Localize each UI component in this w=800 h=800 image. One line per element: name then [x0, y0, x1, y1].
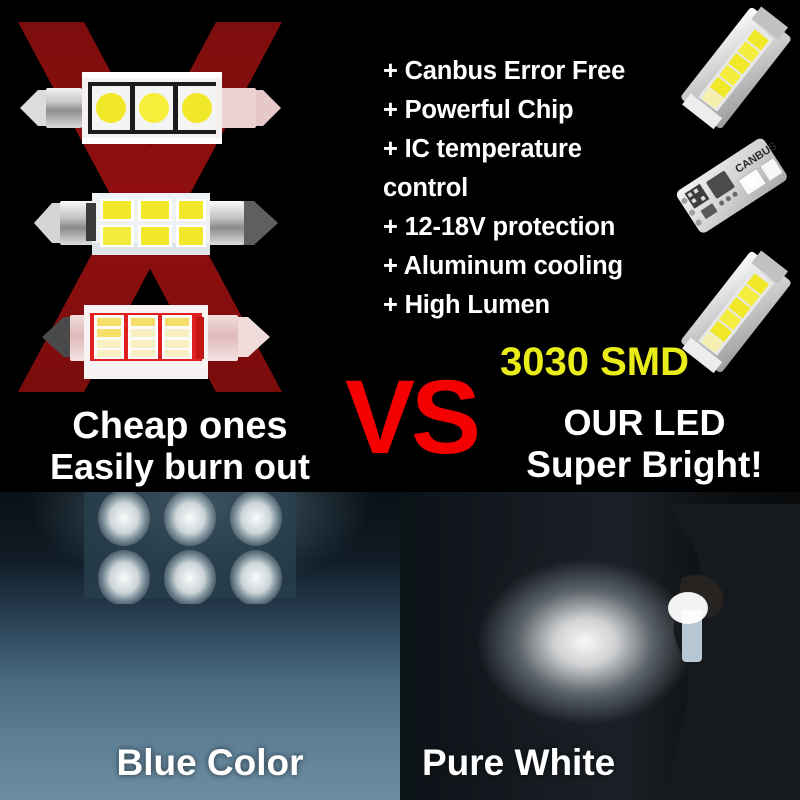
feature-item-2: + IC temperature: [383, 130, 693, 169]
top-comparison-section: CANBUS: [0, 0, 800, 492]
feature-item-0: + Canbus Error Free: [383, 52, 693, 91]
feature-item-4: + 12-18V protection: [383, 208, 693, 247]
cheap-bulb-1-festoon-3smd: [18, 66, 283, 151]
feature-list: + Canbus Error Free + Powerful Chip + IC…: [383, 52, 693, 325]
blue-color-label: Blue Color: [0, 742, 400, 784]
our-led-headline-line1: OUR LED: [492, 402, 797, 444]
vs-label: VS: [345, 365, 477, 470]
cheap-bulb-2-festoon-6smd: [30, 183, 280, 265]
product-comparison-image: CANBUS: [0, 0, 800, 800]
cheap-headline: Cheap ones Easily burn out: [0, 405, 360, 487]
bottom-photo-section: Blue Color Pure White: [0, 492, 800, 800]
cheap-bulb-3-festoon-multi-smd: [20, 295, 275, 387]
feature-item-5: + Aluminum cooling: [383, 247, 693, 286]
blue-color-photo: Blue Color: [0, 492, 400, 800]
feature-item-1: + Powerful Chip: [383, 91, 693, 130]
feature-item-3: control: [383, 169, 693, 208]
pure-white-photo: Pure White: [400, 492, 800, 800]
pure-white-label: Pure White: [400, 742, 800, 784]
cheap-headline-line1: Cheap ones: [0, 405, 360, 447]
feature-item-6: + High Lumen: [383, 286, 693, 325]
our-led-headline-line2: Super Bright!: [492, 444, 797, 486]
glowing-led-board-blue: [66, 492, 314, 604]
our-led-headline: OUR LED Super Bright!: [492, 402, 797, 486]
smd-type-label: 3030 SMD: [500, 340, 689, 385]
cheap-headline-line2: Easily burn out: [0, 447, 360, 487]
